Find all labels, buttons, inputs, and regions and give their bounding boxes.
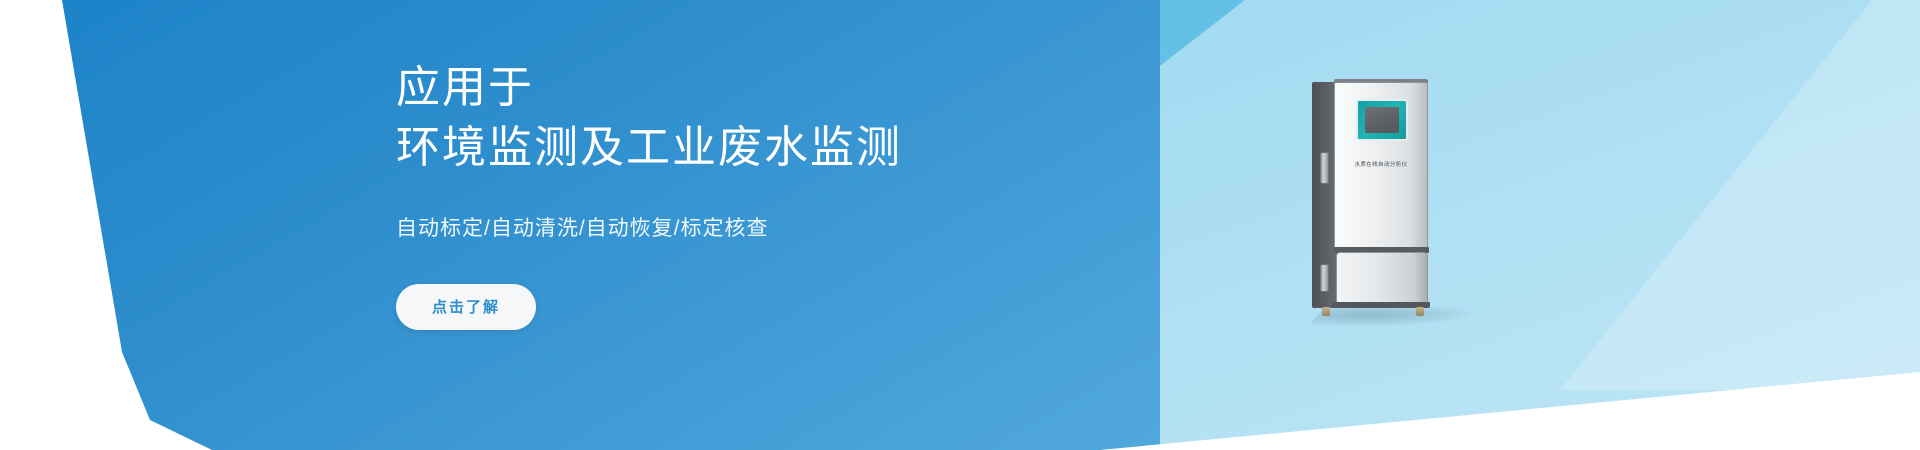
device-caster-right xyxy=(1416,307,1424,316)
device-lower-door xyxy=(1336,252,1428,304)
hero-copy: 应用于 环境监测及工业废水监测 自动标定/自动清洗/自动恢复/标定核查 点击了解 xyxy=(396,58,1156,330)
headline-line-2: 环境监测及工业废水监测 xyxy=(396,118,1156,178)
device-model-label: 水质在线自动分析仪 xyxy=(1336,160,1426,168)
hero-banner: 应用于 环境监测及工业废水监测 自动标定/自动清洗/自动恢复/标定核查 点击了解… xyxy=(0,0,1920,450)
device-display-screen xyxy=(1365,107,1399,133)
water-quality-analyzer-image: 水质在线自动分析仪 xyxy=(1312,82,1430,322)
learn-more-button[interactable]: 点击了解 xyxy=(396,284,536,330)
device-caster-left xyxy=(1322,307,1330,316)
headline-line-1: 应用于 xyxy=(396,58,1156,118)
device-upper-handle xyxy=(1320,152,1329,184)
device-lower-handle xyxy=(1320,264,1329,292)
device-screen-bezel xyxy=(1356,99,1408,141)
hero-subtitle: 自动标定/自动清洗/自动恢复/标定核查 xyxy=(396,214,1156,244)
